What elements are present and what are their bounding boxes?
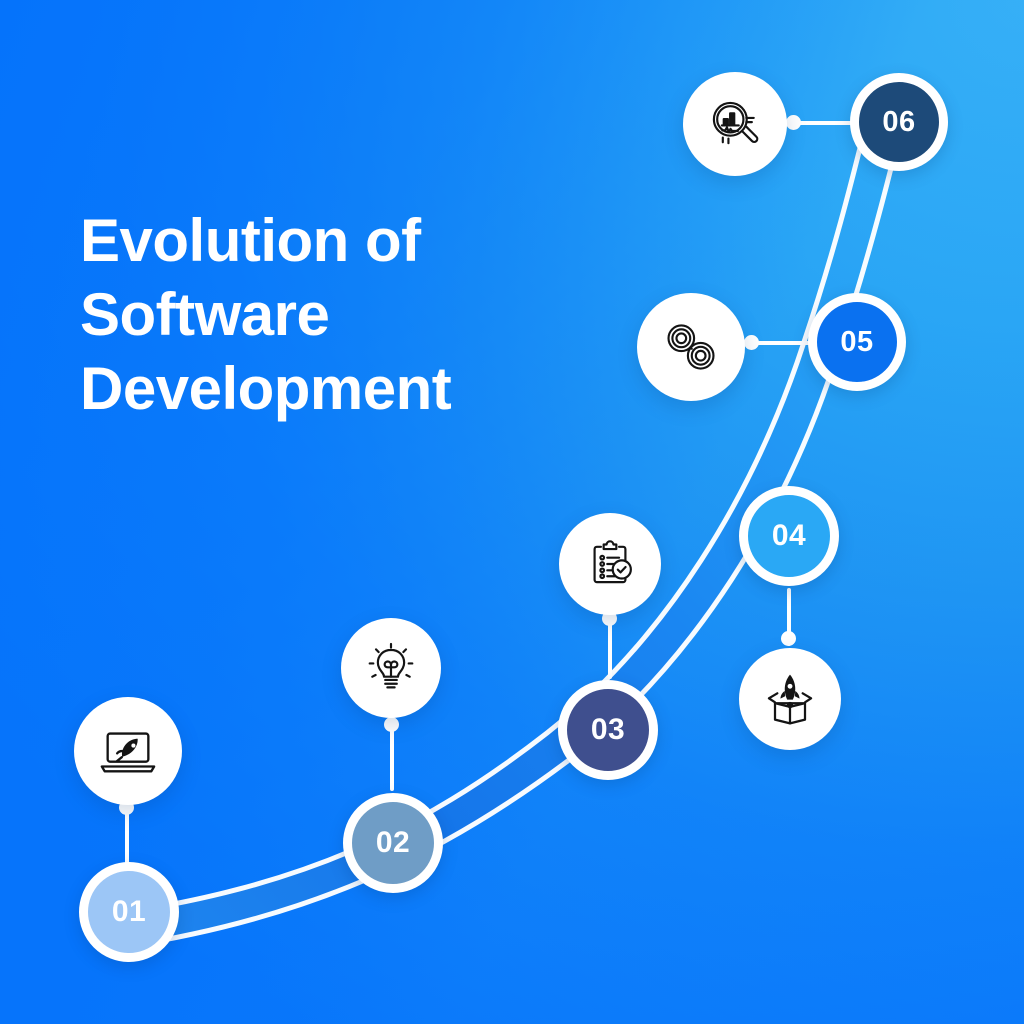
step-marker-06[interactable]: 06 xyxy=(850,73,948,171)
step-marker-03[interactable]: 03 xyxy=(558,680,658,780)
page-title: Evolution of Software Development xyxy=(80,204,640,425)
connector-knob-05 xyxy=(744,335,759,350)
step-number-03: 03 xyxy=(591,715,625,745)
step-number-02: 02 xyxy=(376,828,410,858)
icon-bubble-05[interactable] xyxy=(637,293,745,401)
icon-bubble-03[interactable] xyxy=(559,513,661,615)
connector-knob-04 xyxy=(781,631,796,646)
step-number-01: 01 xyxy=(112,897,146,927)
connector-stem-03 xyxy=(608,617,612,679)
icon-bubble-01[interactable] xyxy=(74,697,182,805)
step-marker-04[interactable]: 04 xyxy=(739,486,839,586)
step-marker-01[interactable]: 01 xyxy=(79,862,179,962)
step-number-06: 06 xyxy=(882,108,915,137)
clipboard-check-icon xyxy=(581,535,639,593)
connector-knob-06 xyxy=(786,115,801,130)
laptop-rocket-icon xyxy=(97,720,159,782)
infinity-loop-icon xyxy=(660,316,722,378)
icon-bubble-04[interactable] xyxy=(739,648,841,750)
step-number-04: 04 xyxy=(772,521,806,551)
icon-bubble-02[interactable] xyxy=(341,618,441,718)
connector-knob-02 xyxy=(384,717,399,732)
lightbulb-icon xyxy=(362,639,420,697)
connector-stem-02 xyxy=(390,723,394,791)
chart-magnifier-icon xyxy=(705,94,765,154)
step-marker-05[interactable]: 05 xyxy=(808,293,906,391)
step-marker-02[interactable]: 02 xyxy=(343,793,443,893)
rocket-box-icon xyxy=(760,669,820,729)
icon-bubble-06[interactable] xyxy=(683,72,787,176)
step-number-05: 05 xyxy=(840,328,873,357)
connector-stem-01 xyxy=(125,806,129,868)
infographic-canvas: Evolution of Software Development xyxy=(0,0,1024,1024)
